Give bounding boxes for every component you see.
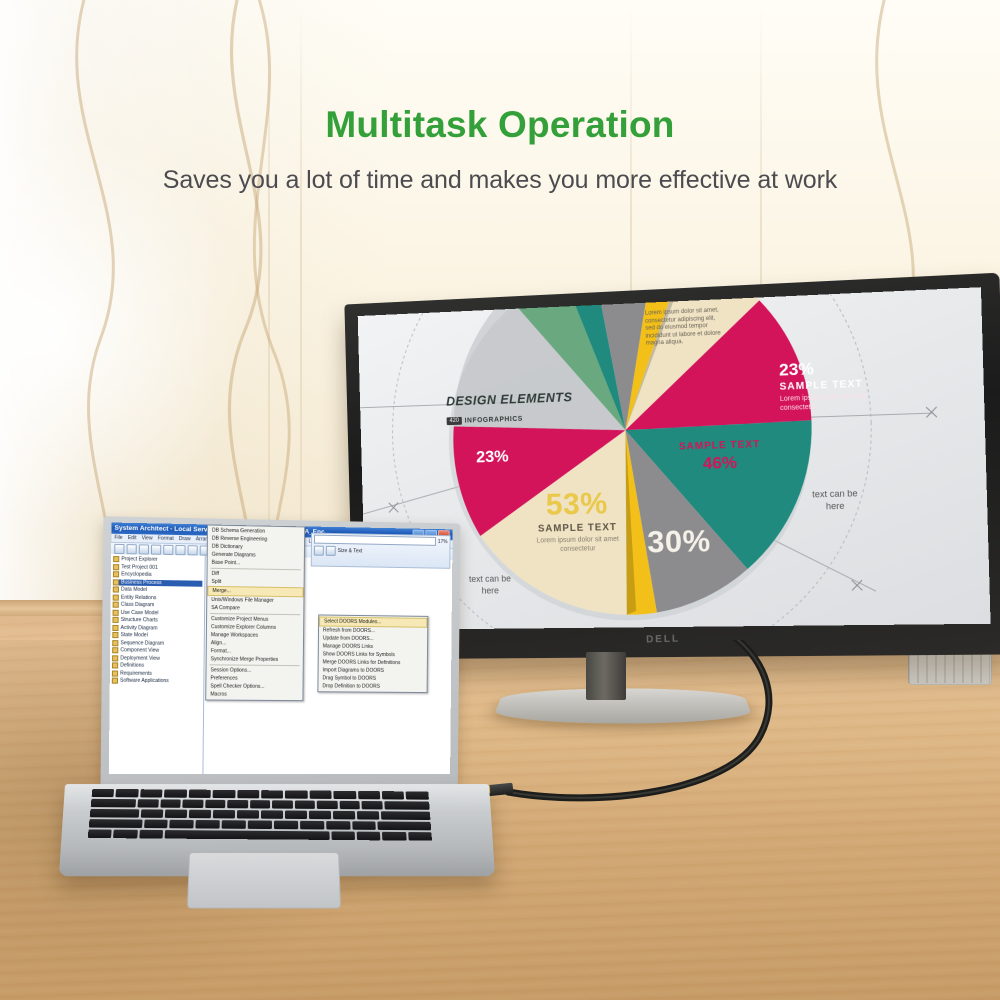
slice-23r-pct: 23% [779,357,868,381]
product-marketing-image: Multitask Operation Saves you a lot of t… [0,0,1000,1000]
tree-item-label: Definitions [120,662,144,668]
tree-item-label: Entity Relations [121,594,157,601]
hdmi-cable [430,640,850,840]
tree-item-label: Test Project 001 [121,564,158,571]
tree-item[interactable]: Component View [112,647,202,654]
slice-label-30: 30% [647,523,711,560]
tree-item-label: Structure Charts [121,617,158,624]
tree-item-label: Activity Diagram [121,624,158,631]
menu-item-format[interactable]: Format [158,536,174,542]
print-icon[interactable] [151,545,161,555]
zoom-level: 17% [438,538,448,544]
page-title: Multitask Operation [0,104,1000,146]
tree-item[interactable]: State Model [112,632,202,639]
keyboard-row [90,809,431,820]
menu-option[interactable]: Macros [206,690,302,699]
folder-icon [112,632,118,638]
tree-item-label: Use Case Model [121,609,159,616]
tree-item[interactable]: Use Case Model [113,609,203,616]
page-subtitle: Saves you a lot of time and makes you mo… [0,166,1000,195]
menu-item-draw[interactable]: Draw [179,536,191,542]
folder-icon [112,655,118,661]
tree-item[interactable]: Requirements [112,670,202,677]
tree-item-label: Sequence Diagram [120,640,164,647]
folder-icon [113,556,119,562]
italic-icon[interactable] [326,546,336,556]
slice-23r-lorem: Lorem ipsum dolor sit amet consectetur [780,392,869,413]
tree-item[interactable]: Software Applications [112,678,202,685]
slice-23r-sub: SAMPLE TEXT [779,378,868,392]
tools-dropdown-menu[interactable]: DB Schema Generation DB Reverse Engineer… [205,524,305,701]
open-icon[interactable] [126,544,136,554]
tree-item-label: Data Model [121,587,147,593]
tree-item-label: Requirements [120,670,152,676]
copy-icon[interactable] [175,545,185,555]
annotation-text-right: text can be here [803,487,868,513]
menu-item-view[interactable]: View [142,535,153,541]
chart-title-block: DESIGN ELEMENTS 420INFOGRAPHICS [446,389,573,428]
tree-item-selected[interactable]: Business Process [113,579,203,586]
laptop-screen: System Architect - Local Server: Jonabra… [109,523,453,775]
folder-icon [113,602,119,608]
tree-item[interactable]: Deployment View [112,655,202,662]
save-icon[interactable] [139,544,149,554]
tree-item[interactable]: Activity Diagram [112,624,202,631]
slice-46-pct: 46% [679,452,762,474]
chart-badge: 420 [447,417,462,425]
paste-icon[interactable] [188,545,198,555]
new-icon[interactable] [114,544,124,554]
tree-item-label: Class Diagram [121,602,155,609]
folder-icon [112,647,118,653]
folder-icon [112,678,118,684]
chart-body-text: Lorem ipsum dolor sit amet, consectetur … [645,307,726,348]
keyboard-row [89,819,432,830]
tree-item[interactable]: Test Project 001 [113,564,203,572]
folder-icon [112,670,118,676]
menu-option[interactable]: SA Compare [207,604,303,613]
tree-item[interactable]: Encyclopedia [113,571,203,579]
folder-icon [113,579,119,585]
laptop-keyboard[interactable] [88,789,432,840]
folder-icon [113,586,119,592]
tree-item-label: State Model [120,632,147,638]
tree-item-label: Project Explorer [121,556,157,563]
slice-53-lorem: Lorem ipsum dolor sit amet consectetur [524,535,632,555]
laptop-trackpad[interactable] [187,852,341,908]
slice-label-46: SAMPLE TEXT 46% [678,439,761,475]
slice-label-23-right: 23% SAMPLE TEXT Lorem ipsum dolor sit am… [779,357,869,413]
slice-label-23-left: 23% [476,447,509,468]
tree-item[interactable]: Definitions [112,662,202,669]
folder-icon [113,594,119,600]
cut-icon[interactable] [163,545,173,555]
folder-icon [112,617,118,623]
menu-option[interactable]: Synchronize Merge Properties [207,655,303,664]
folder-icon [113,571,119,577]
tree-item[interactable]: Sequence Diagram [112,640,202,647]
chart-subtitle: INFOGRAPHICS [465,416,523,425]
tree-item-label: Business Process [121,579,162,586]
folder-icon [113,609,119,615]
keyboard-row [91,799,430,810]
keyboard-row [92,789,429,800]
project-explorer-tree[interactable]: Project Explorer Test Project 001 Encycl… [109,554,206,774]
tree-item-label: Software Applications [120,678,169,684]
tree-item-label: Encyclopedia [121,571,151,578]
folder-icon [112,662,118,668]
folder-icon [112,624,118,630]
properties-panel[interactable]: 17% Size & Text [311,533,451,569]
slice-label-53: 53% SAMPLE TEXT Lorem ipsum dolor sit am… [523,485,632,555]
laptop: System Architect - Local Server: Jonabra… [62,520,492,920]
tree-item[interactable]: Class Diagram [113,602,203,609]
tree-item-label: Component View [120,647,159,653]
doors-submenu[interactable]: Select DOORS Modules... Refresh from DOO… [317,614,428,693]
slice-46-sub: SAMPLE TEXT [678,439,761,453]
bold-icon[interactable] [314,546,324,556]
tree-item[interactable]: Project Explorer [113,556,203,564]
menu-item-file[interactable]: File [114,535,122,541]
menu-item-edit[interactable]: Edit [128,535,137,541]
submenu-option[interactable]: Drop Definition to DOORS [318,682,426,691]
slice-53-pct: 53% [523,485,631,523]
tree-item[interactable]: Data Model [113,586,203,593]
menu-option[interactable]: Base Point... [208,559,304,569]
folder-icon [112,640,118,646]
panel-tool-label: Size & Text [338,548,363,554]
slice-53-sub: SAMPLE TEXT [524,522,631,535]
tree-item[interactable]: Entity Relations [113,594,203,601]
folder-icon [113,564,119,570]
tree-item-label: Deployment View [120,655,160,661]
system-architect-window: System Architect - Local Server: Jonabra… [109,523,453,775]
tree-item[interactable]: Structure Charts [112,617,202,624]
